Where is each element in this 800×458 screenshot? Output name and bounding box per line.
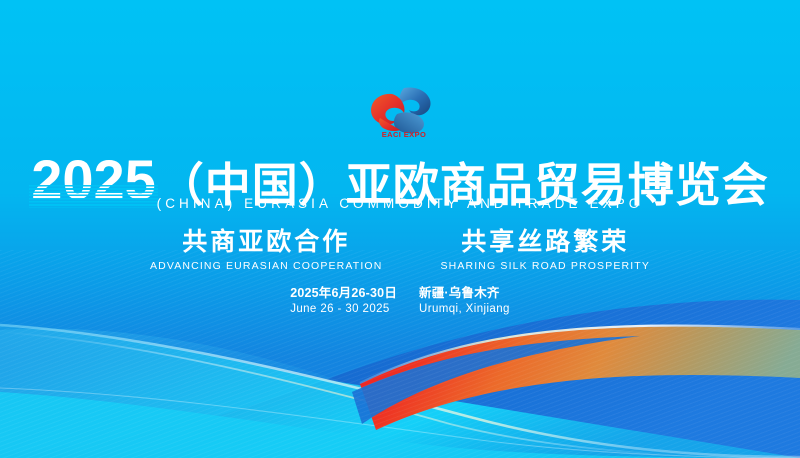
slogan-group: 共商亚欧合作 ADVANCING EURASIAN COOPERATION 共享… — [0, 228, 800, 272]
slogan-2: 共享丝路繁荣 SHARING SILK ROAD PROSPERITY — [440, 228, 650, 272]
event-date-english: June 26 - 30 2025 — [290, 302, 397, 316]
event-date-chinese: 2025年6月26-30日 — [290, 286, 397, 302]
event-venue-chinese: 新疆·乌鲁木齐 — [419, 286, 510, 302]
event-venue-english: Urumqi, Xinjiang — [419, 302, 510, 316]
expo-banner: EACI EXPO 2025 （中国）亚欧商品贸易博览会 (CHINA) EUR… — [0, 0, 800, 458]
slogan-2-english: SHARING SILK ROAD PROSPERITY — [440, 261, 650, 272]
title-english: (CHINA) EURASIA COMMODITY AND TRADE EXPO — [0, 197, 800, 211]
slogan-2-chinese: 共享丝路繁荣 — [440, 228, 650, 256]
slogan-1: 共商亚欧合作 ADVANCING EURASIAN COOPERATION — [150, 228, 382, 272]
logo-wordmark: EACI EXPO — [382, 130, 426, 139]
banner-content: EACI EXPO 2025 （中国）亚欧商品贸易博览会 (CHINA) EUR… — [0, 0, 800, 458]
slogan-1-english: ADVANCING EURASIAN COOPERATION — [150, 261, 382, 272]
slogan-1-chinese: 共商亚欧合作 — [150, 228, 382, 256]
event-venue: 新疆·乌鲁木齐 Urumqi, Xinjiang — [419, 286, 510, 316]
event-date: 2025年6月26-30日 June 26 - 30 2025 — [290, 286, 397, 316]
eaci-expo-logo-icon: EACI EXPO — [364, 84, 436, 140]
event-meta: 2025年6月26-30日 June 26 - 30 2025 新疆·乌鲁木齐 … — [0, 286, 800, 316]
logo: EACI EXPO — [0, 84, 800, 140]
